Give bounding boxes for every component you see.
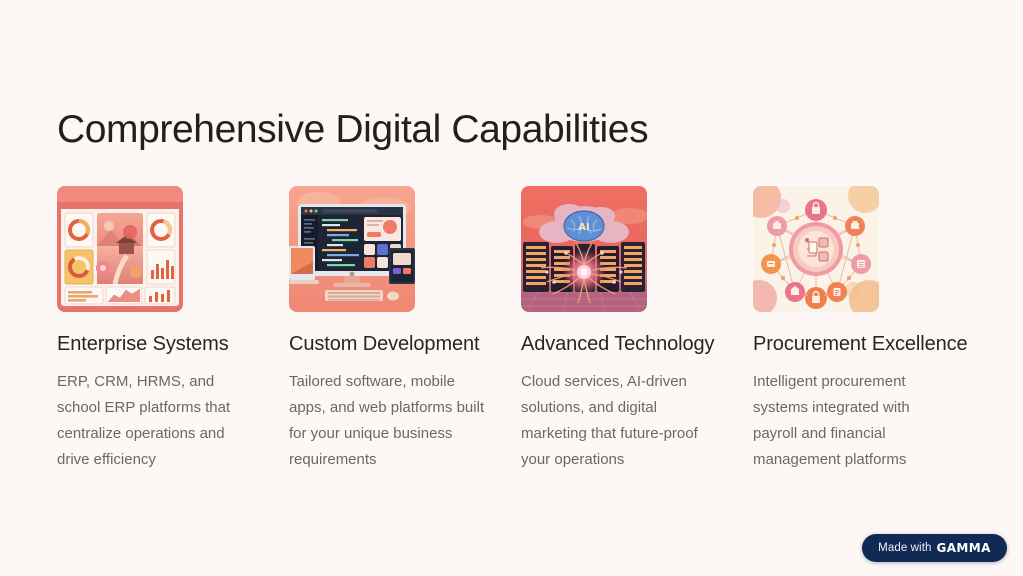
made-with-gamma-badge[interactable]: Made with GAMMA xyxy=(862,534,1007,562)
capability-card-custom-development: Custom Development Tailored software, mo… xyxy=(289,186,489,473)
card-heading: Procurement Excellence xyxy=(753,332,953,357)
badge-prefix-label: Made with xyxy=(878,542,931,554)
capability-card-grid: Enterprise Systems ERP, CRM, HRMS, and s… xyxy=(57,186,967,473)
capability-card-advanced-technology: AI xyxy=(521,186,721,473)
slide-canvas: Comprehensive Digital Capabilities xyxy=(0,0,1023,576)
advanced-technology-illustration: AI xyxy=(521,186,647,312)
enterprise-dashboard-illustration xyxy=(57,186,183,312)
card-body-text: Intelligent procurement systems integrat… xyxy=(753,369,953,473)
card-heading: Advanced Technology xyxy=(521,332,721,357)
capability-card-enterprise-systems: Enterprise Systems ERP, CRM, HRMS, and s… xyxy=(57,186,257,473)
procurement-network-illustration xyxy=(753,186,879,312)
capability-card-procurement-excellence: Procurement Excellence Intelligent procu… xyxy=(753,186,953,473)
card-heading: Enterprise Systems xyxy=(57,332,257,357)
svg-text:AI: AI xyxy=(578,222,589,233)
card-body-text: Tailored software, mobile apps, and web … xyxy=(289,369,489,473)
page-title: Comprehensive Digital Capabilities xyxy=(57,108,648,153)
card-body-text: Cloud services, AI-driven solutions, and… xyxy=(521,369,721,473)
gamma-wordmark: GAMMA xyxy=(937,541,991,555)
custom-development-illustration xyxy=(289,186,415,312)
card-body-text: ERP, CRM, HRMS, and school ERP platforms… xyxy=(57,369,257,473)
card-heading: Custom Development xyxy=(289,332,489,357)
